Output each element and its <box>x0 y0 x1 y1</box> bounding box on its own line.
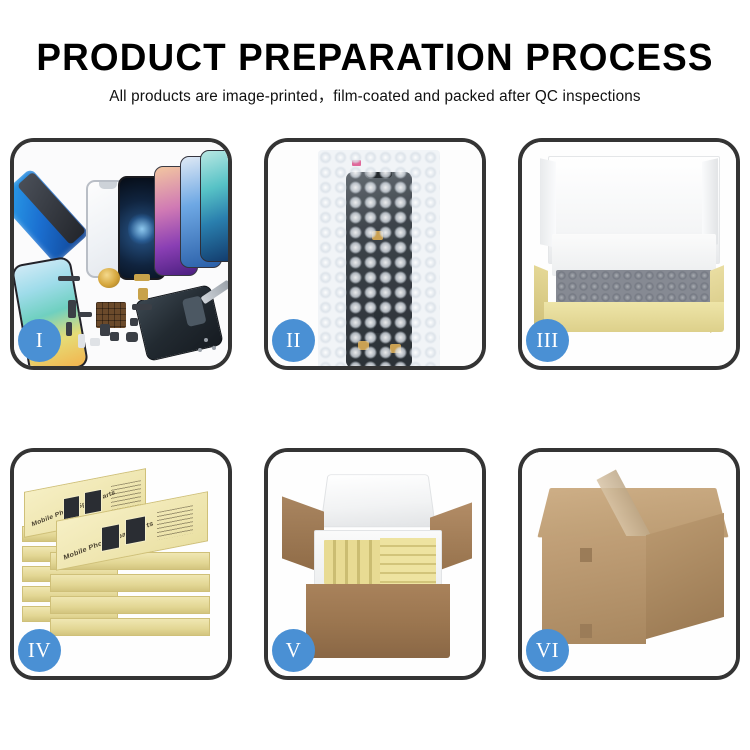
panel-sealed-carton[interactable]: VI <box>518 448 740 680</box>
step-badge-6: VI <box>526 629 569 672</box>
step-badge-3: III <box>526 319 569 362</box>
panel-inner-box-packing[interactable]: III <box>518 138 740 370</box>
speaker-coil-icon <box>98 268 120 288</box>
carton-side-icon <box>646 513 724 639</box>
panel-foam-carton-packing[interactable]: V <box>264 448 486 680</box>
step-badge-1: I <box>18 319 61 362</box>
header: PRODUCT PREPARATION PROCESS All products… <box>0 0 750 107</box>
process-step-grid: I <box>0 138 750 680</box>
step-badge-4: IV <box>18 629 61 672</box>
step-badge-2: II <box>272 319 315 362</box>
process-row-bottom: Mobile Phone Spare Parts Mobile Phone Sp… <box>0 448 750 680</box>
page-title: PRODUCT PREPARATION PROCESS <box>11 38 739 78</box>
panel-product-parts[interactable]: I <box>10 138 232 370</box>
page-subtitle: All products are image-printed，film-coat… <box>0 87 750 107</box>
yellow-tray-icon <box>544 302 724 332</box>
step-badge-5: V <box>272 629 315 672</box>
process-row-top: I <box>0 138 750 370</box>
panel-bubble-wrapped-screen[interactable]: II <box>264 138 486 370</box>
kraft-carton-icon <box>306 584 450 658</box>
foam-lid-icon <box>320 474 436 527</box>
panel-stacked-retail-boxes[interactable]: Mobile Phone Spare Parts Mobile Phone Sp… <box>10 448 232 680</box>
product-preparation-infographic: PRODUCT PREPARATION PROCESS All products… <box>0 0 750 750</box>
phone-display-teal-icon <box>200 150 228 262</box>
carton-front-icon <box>542 536 646 644</box>
bubble-wrap-bag-icon <box>318 150 440 366</box>
